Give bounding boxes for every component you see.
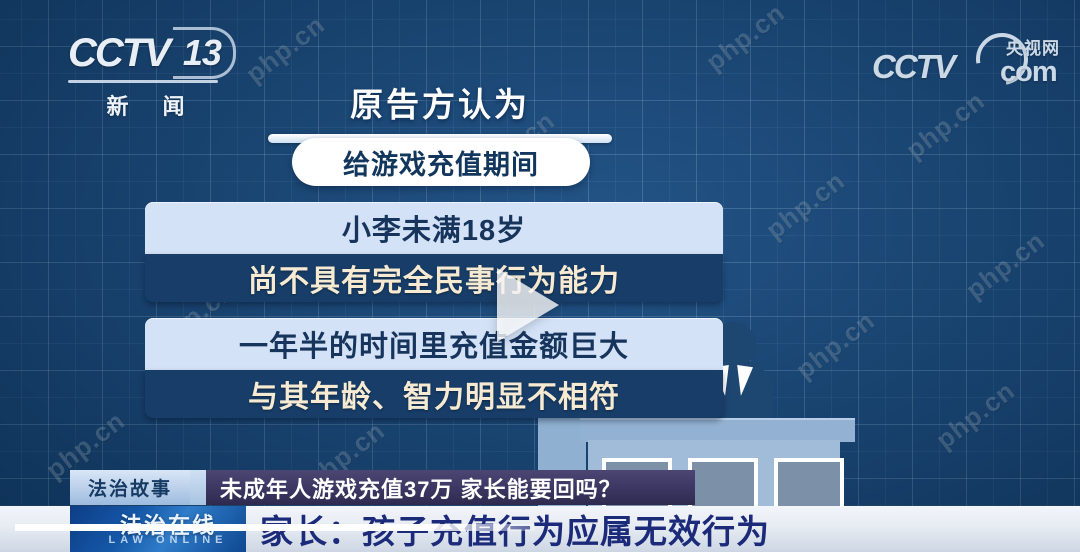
cctv-com-wordmark: CCTV xyxy=(872,48,954,86)
program-tag: 法治故事 xyxy=(70,470,190,505)
slide-title: 原告方认为 xyxy=(268,78,612,143)
channel-subtitle: 新 闻 xyxy=(68,89,223,121)
slide-block-1: 小李未满18岁 尚不具有完全民事行为能力 xyxy=(145,202,723,302)
cctv-com-domain: com xyxy=(1000,56,1057,89)
cctv13-channel-logo: CCTV 13 新 闻 xyxy=(68,28,243,113)
slide-block-1-top-text: 小李未满18岁 xyxy=(342,207,526,249)
channel-number: 13 xyxy=(183,32,221,74)
program-tag-text: 法治故事 xyxy=(88,474,172,501)
slide-block-1-bottom: 尚不具有完全民事行为能力 xyxy=(145,254,723,302)
cctv-wordmark: CCTV xyxy=(68,31,169,76)
slide-block-2-top-text: 一年半的时间里充值金额巨大 xyxy=(239,323,629,365)
slide-block-2-top: 一年半的时间里充值金额巨大 xyxy=(145,318,723,370)
broadcast-frame: php.cn php.cn php.cn php.cn php.cn php.c… xyxy=(0,0,1080,552)
logo-underline xyxy=(68,80,218,83)
lower-third-divider xyxy=(190,470,206,505)
slide-block-2-bottom-text: 与其年龄、智力明显不相符 xyxy=(248,372,620,416)
bench-top xyxy=(580,418,855,442)
slide-block-1-top: 小李未满18岁 xyxy=(145,202,723,254)
cctv-com-watermark-logo: CCTV 央视网 com xyxy=(872,30,1062,92)
headline-text: 未成年人游戏充值37万 家长能要回吗？ xyxy=(220,472,622,504)
lower-third-headline-row: 法治故事 未成年人游戏充值37万 家长能要回吗？ xyxy=(70,470,695,505)
slide-block-2-bottom: 与其年龄、智力明显不相符 xyxy=(145,370,723,418)
slide-block-2: 一年半的时间里充值金额巨大 与其年龄、智力明显不相符 xyxy=(145,318,723,418)
slide-pill-text: 给游戏充值期间 xyxy=(343,143,539,182)
program-logo-en: LAW ONLINE xyxy=(98,534,238,546)
channel-number-badge: 13 xyxy=(173,27,236,79)
play-triangle-icon[interactable] xyxy=(497,268,559,342)
headline-banner: 未成年人游戏充值37万 家长能要回吗？ xyxy=(206,470,695,505)
slide-title-text: 原告方认为 xyxy=(268,78,612,126)
ticker-streak-line xyxy=(15,524,535,531)
slide-pill: 给游戏充值期间 xyxy=(292,138,590,186)
slide-block-1-bottom-text: 尚不具有完全民事行为能力 xyxy=(248,256,620,300)
